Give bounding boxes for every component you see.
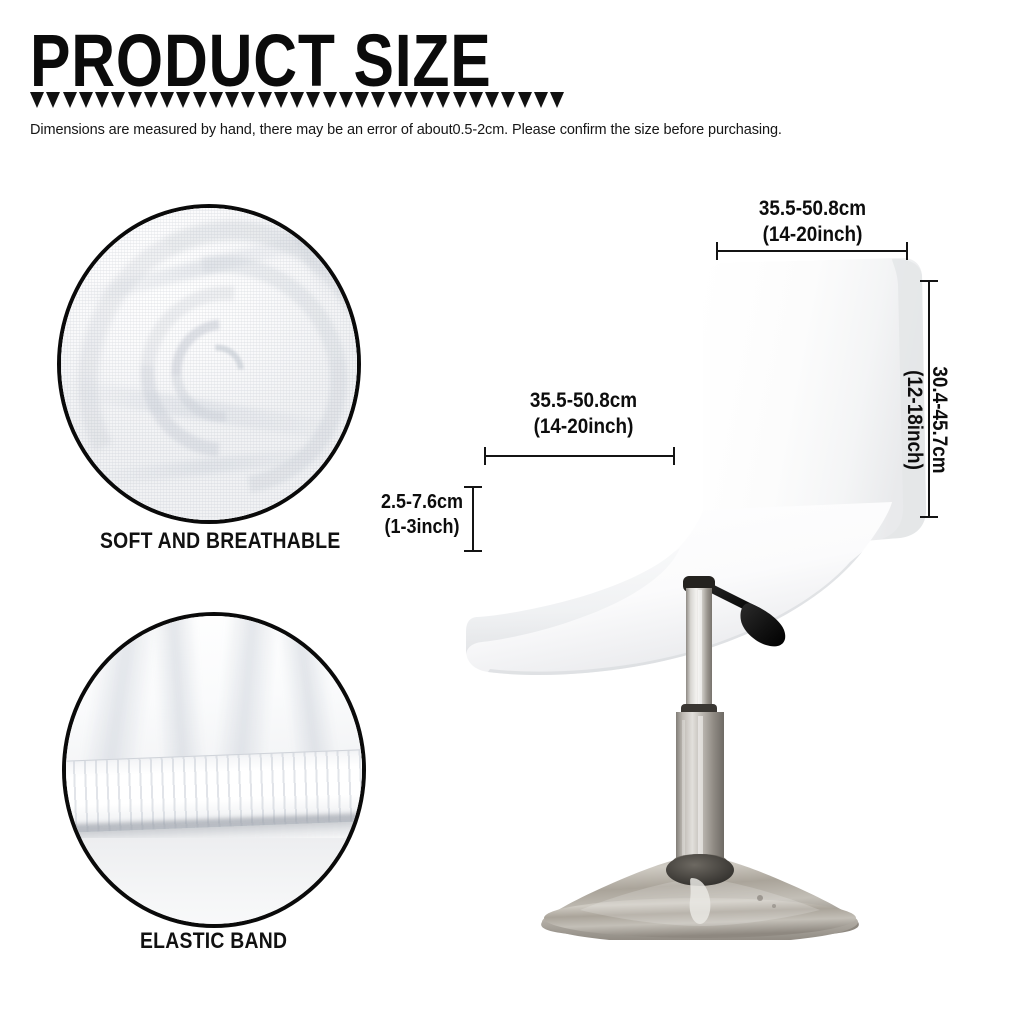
chair-seat: [466, 502, 892, 675]
triangle-marker: [453, 92, 467, 108]
triangle-marker: [111, 92, 125, 108]
dimension-bar-seat-thickness: [464, 486, 482, 552]
dimension-label-seat-thickness: 2.5-7.6cm (1-3inch): [368, 490, 476, 540]
elastic-band-hem-photo: [66, 616, 362, 924]
dimension-tick-start: [464, 486, 482, 488]
triangle-marker: [46, 92, 60, 108]
dimension-label-seat-depth: 35.5-50.8cm (14-20inch): [487, 388, 681, 440]
dimension-tick-end: [464, 550, 482, 552]
triangle-marker: [501, 92, 515, 108]
dimension-tick-start: [716, 242, 718, 260]
dimension-value-cm: 2.5-7.6cm: [381, 491, 463, 513]
dimension-tick-end: [906, 242, 908, 260]
disclaimer-text: Dimensions are measured by hand, there m…: [30, 122, 782, 138]
triangle-marker: [274, 92, 288, 108]
triangle-marker: [95, 92, 109, 108]
chrome-trumpet-base: [541, 854, 859, 940]
dimension-value-cm: 35.5-50.8cm: [759, 197, 866, 220]
callout-label-elastic-band: ELASTIC BAND: [140, 928, 287, 954]
dimension-bar-line: [472, 486, 474, 552]
dimension-tick-start: [920, 280, 938, 282]
triangle-marker: [160, 92, 174, 108]
triangle-marker: [193, 92, 207, 108]
triangle-marker: [339, 92, 353, 108]
white-slipcovered-swivel-chair-photo: [430, 180, 990, 940]
triangle-marker: [371, 92, 385, 108]
dimension-bar-backrest-height: [920, 280, 938, 518]
triangle-marker: [550, 92, 564, 108]
dimension-bar-line: [484, 455, 675, 457]
dimension-tick-end: [673, 447, 675, 465]
dimension-bar-backrest-width: [716, 242, 908, 260]
triangle-marker: [144, 92, 158, 108]
triangle-marker: [436, 92, 450, 108]
triangle-marker: [30, 92, 44, 108]
dimension-tick-end: [920, 516, 938, 518]
dimension-value-inch: (14-20inch): [487, 414, 681, 440]
triangle-marker: [241, 92, 255, 108]
triangle-marker: [355, 92, 369, 108]
infographic-canvas: PRODUCT SIZE Dimensions are measured by …: [0, 0, 1024, 1024]
triangle-marker: [209, 92, 223, 108]
dimension-bar-seat-depth: [484, 447, 675, 465]
callout-circle-elastic: [62, 612, 366, 928]
triangle-marker: [485, 92, 499, 108]
triangle-marker: [79, 92, 93, 108]
callout-label-soft-and-breathable: SOFT AND BREATHABLE: [100, 528, 341, 554]
fabric-weave-texture: [61, 208, 357, 520]
elastic-background-surface: [62, 838, 366, 928]
triangle-marker: [306, 92, 320, 108]
triangle-marker: [176, 92, 190, 108]
dimension-label-backrest-width: 35.5-50.8cm (14-20inch): [716, 196, 910, 248]
triangle-divider: [30, 92, 564, 112]
page-title: PRODUCT SIZE: [30, 24, 492, 98]
callout-circle-fabric: [57, 204, 361, 524]
triangle-marker: [63, 92, 77, 108]
triangle-marker: [388, 92, 402, 108]
dimension-bar-line: [716, 250, 908, 252]
triangle-marker: [258, 92, 272, 108]
triangle-marker: [323, 92, 337, 108]
triangle-marker: [534, 92, 548, 108]
triangle-marker: [404, 92, 418, 108]
triangle-marker: [128, 92, 142, 108]
dimension-value-inch: (1-3inch): [368, 515, 476, 540]
dimension-bar-line: [928, 280, 930, 518]
triangle-marker: [290, 92, 304, 108]
triangle-marker: [225, 92, 239, 108]
triangle-marker: [518, 92, 532, 108]
white-fabric-swirl-photo: [61, 208, 357, 520]
triangle-marker: [420, 92, 434, 108]
dimension-tick-start: [484, 447, 486, 465]
triangle-marker: [469, 92, 483, 108]
dimension-value-cm: 35.5-50.8cm: [530, 389, 637, 412]
